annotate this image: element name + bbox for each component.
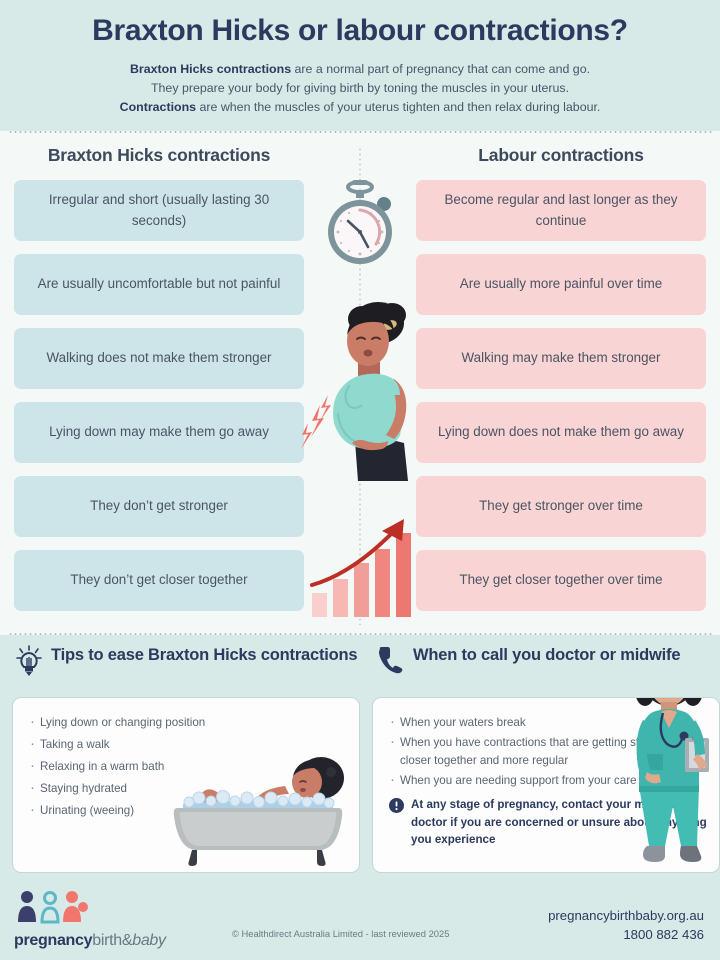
chip-braxton-6: They don’t get closer together: [14, 550, 304, 611]
list-item: Staying hydrated: [29, 780, 345, 798]
logo-text-birth: birth&: [92, 932, 132, 949]
page-title: Braxton Hicks or labour contractions?: [0, 14, 720, 49]
column-title-labour: Labour contractions: [416, 145, 706, 166]
comparison-section: Braxton Hicks contractions Irregular and…: [0, 133, 720, 633]
tips-panel-header: Tips to ease Braxton Hicks contractions: [12, 645, 360, 693]
list-item: Urinating (weeing): [29, 802, 345, 820]
rising-bar-chart-illustration: [306, 505, 418, 617]
header-line-3-rest: are when the muscles of your uterus tigh…: [196, 100, 600, 114]
phone-number[interactable]: 1800 882 436: [548, 925, 704, 944]
chip-braxton-5: They don’t get stronger: [14, 476, 304, 537]
chip-labour-2: Are usually more painful over time: [416, 254, 706, 315]
logo[interactable]: pregnancybirth&baby: [14, 890, 166, 950]
chip-labour-1: Become regular and last longer as they c…: [416, 180, 706, 241]
contact-block: pregnancybirthbaby.org.au 1800 882 436: [548, 906, 704, 944]
tips-list: Lying down or changing position Taking a…: [13, 698, 359, 820]
chip-braxton-3: Walking does not make them stronger: [14, 328, 304, 389]
call-panel-title: When to call you doctor or midwife: [413, 645, 680, 666]
chip-labour-3: Walking may make them stronger: [416, 328, 706, 389]
logo-text-pregnancy: pregnancy: [14, 932, 92, 949]
column-labour: Labour contractions Become regular and l…: [416, 145, 706, 624]
chip-labour-4: Lying down does not make them go away: [416, 402, 706, 463]
chip-braxton-2: Are usually uncomfortable but not painfu…: [14, 254, 304, 315]
header-line-1: Braxton Hicks contractions are a normal …: [34, 60, 686, 79]
header-line-3-bold: Contractions: [120, 100, 196, 114]
tips-panel: Tips to ease Braxton Hicks contractions …: [12, 645, 360, 873]
chip-labour-6: They get closer together over time: [416, 550, 706, 611]
tips-panel-title: Tips to ease Braxton Hicks contractions: [51, 645, 357, 666]
copyright-text: © Healthdirect Australia Limited - last …: [232, 928, 449, 939]
column-braxton-hicks: Braxton Hicks contractions Irregular and…: [14, 145, 304, 624]
header-line-2: They prepare your body for giving birth …: [34, 79, 686, 98]
pregnancy-birth-baby-logo: [14, 890, 94, 924]
tips-card: Lying down or changing position Taking a…: [12, 697, 360, 873]
header-line-1-rest: are a normal part of pregnancy that can …: [291, 62, 590, 76]
pregnant-woman-illustration: [300, 301, 424, 481]
midwife-illustration: [623, 697, 715, 873]
center-illustrations: [290, 133, 430, 633]
infographic-page: Braxton Hicks or labour contractions? Br…: [0, 0, 720, 960]
header-subtitle: Braxton Hicks contractions are a normal …: [0, 60, 720, 118]
logo-wordmark: pregnancybirth&baby: [14, 932, 166, 950]
footer-section: pregnancybirth&baby © Healthdirect Austr…: [0, 878, 720, 960]
stopwatch-icon: [316, 177, 404, 269]
bottom-section: Tips to ease Braxton Hicks contractions …: [0, 635, 720, 878]
exclamation-circle-icon: [389, 798, 404, 813]
pain-lightning-icon: [301, 395, 331, 449]
chip-braxton-4: Lying down may make them go away: [14, 402, 304, 463]
call-panel-header: When to call you doctor or midwife: [372, 645, 720, 693]
lightbulb-icon: [16, 645, 42, 677]
phone-icon: [376, 645, 404, 675]
chip-braxton-1: Irregular and short (usually lasting 30 …: [14, 180, 304, 241]
call-card: When your waters break When you have con…: [372, 697, 720, 873]
logo-text-baby: baby: [132, 932, 166, 949]
header-line-1-bold: Braxton Hicks contractions: [130, 62, 291, 76]
list-item: Relaxing in a warm bath: [29, 758, 345, 776]
website-link[interactable]: pregnancybirthbaby.org.au: [548, 906, 704, 925]
call-panel: When to call you doctor or midwife When …: [372, 645, 720, 873]
chip-labour-5: They get stronger over time: [416, 476, 706, 537]
header-line-3: Contractions are when the muscles of you…: [34, 98, 686, 117]
list-item: Lying down or changing position: [29, 714, 345, 732]
column-title-braxton-hicks: Braxton Hicks contractions: [14, 145, 304, 166]
list-item: Taking a walk: [29, 736, 345, 754]
header-section: Braxton Hicks or labour contractions? Br…: [0, 0, 720, 131]
